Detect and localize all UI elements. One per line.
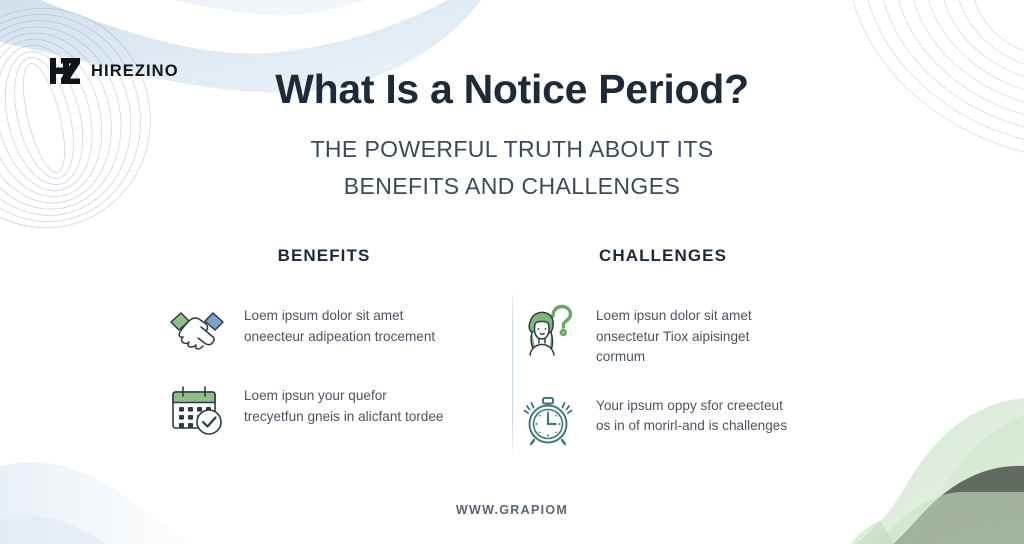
benefits-item-2-text: Loem ipsun your quefor trecyetfun gneis …: [244, 382, 444, 427]
benefits-item-1-text: Loem ipsum dolor sit amet oneecteur adip…: [244, 302, 444, 347]
challenges-column: CHALLENGES: [520, 246, 850, 472]
challenges-item-2-text: Your ipsum oppy sfor creecteut os in of …: [596, 392, 796, 437]
brand-name: HIREZINO: [91, 62, 179, 81]
challenges-heading: CHALLENGES: [520, 246, 850, 266]
calendar-check-icon: [168, 382, 226, 438]
person-question-icon: [520, 302, 578, 358]
footer-url[interactable]: WWW.GRAPIOM: [0, 503, 1024, 517]
column-divider: [512, 290, 513, 456]
subtitle-line-2: BENEFITS AND CHALLENGES: [232, 168, 792, 205]
benefits-item-1: Loem ipsum dolor sit amet oneecteur adip…: [168, 302, 498, 358]
challenges-item-1: Loem ipsun dolor sit amet onsectetur Tio…: [520, 302, 850, 368]
concentric-lines-top-left: [0, 0, 173, 250]
handshake-icon: [168, 302, 226, 358]
benefits-column: BENEFITS Loem ipsum dolor sit amet oneec: [168, 246, 498, 462]
hz-monogram-icon: [48, 56, 82, 86]
brand-logo[interactable]: HIREZINO: [48, 56, 179, 86]
alarm-clock-icon: [520, 392, 578, 448]
challenges-item-2: Your ipsum oppy sfor creecteut os in of …: [520, 392, 850, 448]
challenges-item-1-text: Loem ipsun dolor sit amet onsectetur Tio…: [596, 302, 796, 368]
subtitle-line-1: THE POWERFUL TRUTH ABOUT ITS: [232, 131, 792, 168]
benefits-heading: BENEFITS: [168, 246, 498, 266]
green-blob-bottom-right: [838, 398, 1024, 544]
infographic-canvas: HIREZINO What Is a Notice Period? THE PO…: [0, 0, 1024, 544]
page-subtitle: THE POWERFUL TRUTH ABOUT ITS BENEFITS AN…: [232, 131, 792, 205]
benefits-item-2: Loem ipsun your quefor trecyetfun gneis …: [168, 382, 498, 438]
